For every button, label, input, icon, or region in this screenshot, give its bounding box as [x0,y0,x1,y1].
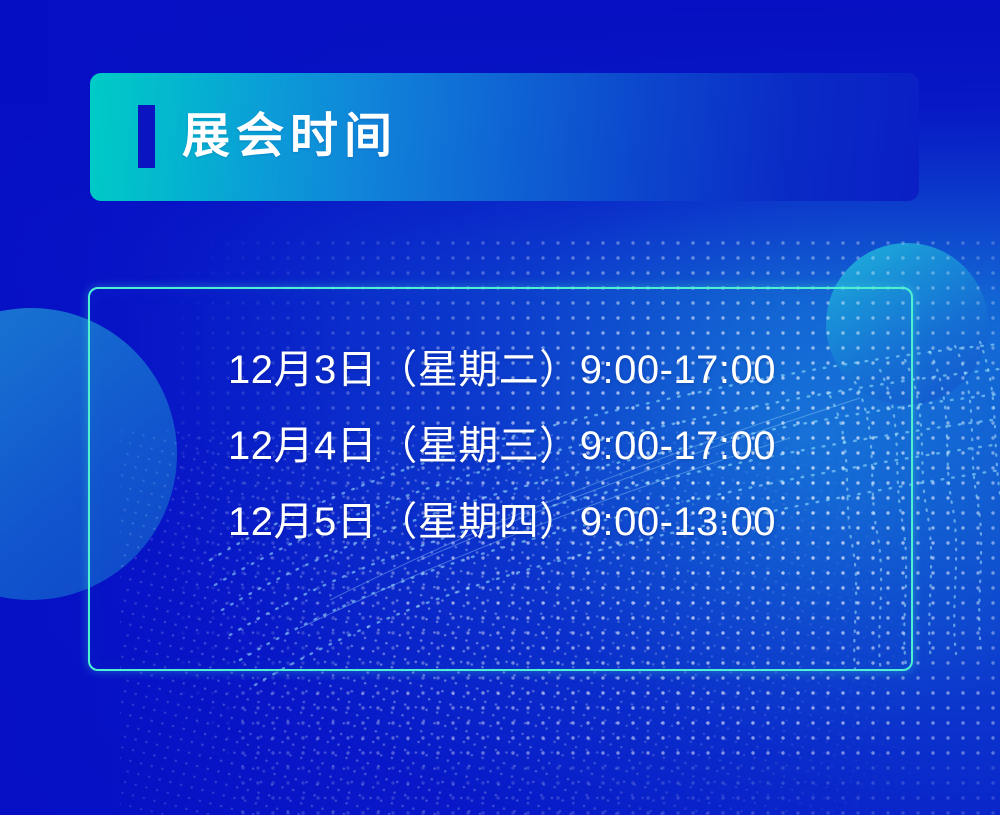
list-item: 12月3日（星期二）9:00-17:00 [228,347,776,393]
header-accent-bar [138,105,155,168]
schedule-list: 12月3日（星期二）9:00-17:00 12月4日（星期三）9:00-17:0… [228,347,776,545]
list-item: 12月5日（星期四）9:00-13:00 [228,499,776,545]
poster-canvas: 展会时间 12月3日（星期二）9:00-17:00 12月4日（星期三）9:00… [0,0,1000,815]
section-header-banner: 展会时间 [90,73,919,201]
page-title: 展会时间 [182,113,398,161]
schedule-card: 12月3日（星期二）9:00-17:00 12月4日（星期三）9:00-17:0… [88,287,913,671]
list-item: 12月4日（星期三）9:00-17:00 [228,423,776,469]
